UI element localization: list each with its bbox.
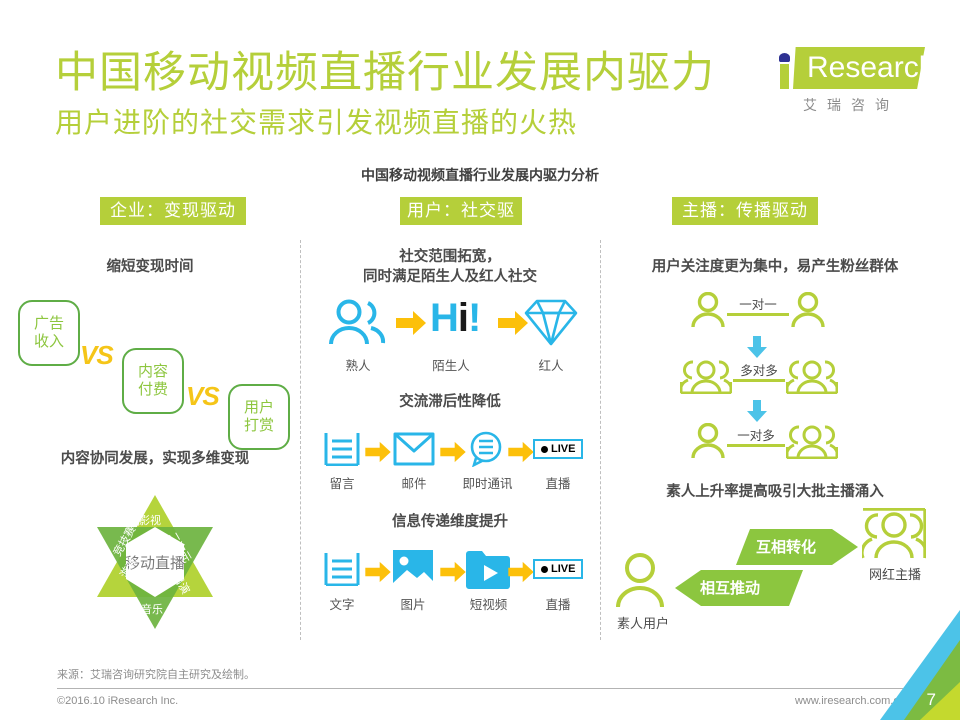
group-icon-influencer [862, 508, 926, 560]
column-header-user: 用户：社交驱动 [400, 197, 522, 225]
slide-page: 中国移动视频直播行业发展内驱力 用户进阶的社交需求引发视频直播的火热 Resea… [0, 0, 960, 720]
document-icon-2 [324, 552, 360, 586]
section-heading-social-scope: 社交范围拓宽， 同时满足陌生人及红人社交 [320, 248, 580, 287]
copyright-text: ©2016.10 iResearch Inc. [57, 695, 178, 707]
icon-label-instant-messaging: 即时通讯 [450, 473, 525, 492]
image-icon [393, 550, 433, 588]
icon-label-message: 留言 [312, 473, 372, 492]
icon-label-live-2: 直播 [528, 594, 588, 613]
group-icon-3 [786, 423, 838, 459]
person-icon-amateur [614, 553, 666, 609]
section-heading-monetization-time: 缩短变现时间 [60, 258, 240, 278]
column-divider-2 [600, 240, 601, 640]
footer-divider [57, 688, 903, 689]
icon-label-text: 文字 [312, 594, 372, 613]
box-ad-revenue: 广告 收入 [18, 300, 80, 366]
arrow-right-icon-5 [508, 441, 534, 463]
relation-line-1 [727, 313, 789, 316]
icon-label-short-video: 短视频 [451, 594, 526, 613]
box-ad-revenue-label: 广告 收入 [34, 315, 64, 351]
logo-i-dot [779, 53, 790, 62]
relation-label-many-to-many: 多对多 [729, 360, 789, 379]
live-badge-icon-2: LIVE [533, 559, 583, 579]
relation-line-3 [727, 444, 785, 447]
relation-label-one-to-one: 一对一 [728, 294, 788, 313]
section-heading-content-synergy: 内容协同发展，实现多维变现 [40, 450, 270, 470]
page-subtitle: 用户进阶的社交需求引发视频直播的火热 [55, 108, 577, 139]
arrow-down-icon-2 [746, 400, 768, 422]
box-user-tipping-label: 用户 打赏 [244, 399, 274, 435]
logo-chinese-name: 艾瑞咨询 [803, 95, 899, 115]
icon-label-acquaintance: 熟人 [328, 355, 388, 374]
arrow-right-icon-4 [440, 441, 466, 463]
section-heading-info-dimension: 信息传递维度提升 [320, 513, 580, 533]
icon-label-influencer: 红人 [521, 355, 581, 374]
arrow-right-icon-3 [365, 441, 391, 463]
page-title: 中国移动视频直播行业发展内驱力 [55, 50, 715, 97]
arrow-right-icon-8 [508, 561, 534, 583]
live-dot-icon-2 [541, 566, 548, 573]
section-heading-attention-concentration: 用户关注度更为集中，易产生粉丝群体 [610, 258, 940, 278]
page-number: 7 [927, 690, 936, 710]
arrow-right-icon-6 [365, 561, 391, 583]
live-dot-icon-1 [541, 446, 548, 453]
live-badge-icon-1: LIVE [533, 439, 583, 459]
box-user-tipping: 用户 打赏 [228, 384, 290, 450]
box-content-payment: 内容 付费 [122, 348, 184, 414]
corner-decoration-icon [880, 610, 960, 720]
arrow-right-icon-1 [396, 310, 426, 336]
arrow-right-icon-7 [440, 561, 466, 583]
arrow-down-icon-1 [746, 336, 768, 358]
icon-label-live-1: 直播 [528, 473, 588, 492]
box-content-payment-label: 内容 付费 [138, 363, 168, 399]
vs-label-1: VS [80, 340, 113, 371]
corner-decoration [880, 610, 960, 720]
icon-label-stranger: 陌生人 [421, 355, 481, 374]
diamond-icon [524, 298, 578, 346]
label-mutual-promotion: 相互推动 [700, 577, 760, 598]
logo-i-icon [779, 53, 791, 89]
live-badge-label-2: LIVE [551, 563, 575, 575]
label-mutual-conversion: 互相转化 [756, 536, 816, 557]
relation-line-2 [733, 379, 785, 382]
person-icon-3 [690, 423, 726, 459]
column-header-enterprise: 企业：变现驱动 [100, 197, 246, 225]
section-heading-communication-lag: 交流滞后性降低 [320, 393, 580, 413]
chart-title: 中国移动视频直播行业发展内驱力分析 [0, 165, 960, 185]
hi-text-icon: Hi! [430, 296, 480, 341]
logo-mark: Research [775, 45, 935, 93]
icon-label-picture: 图片 [383, 594, 443, 613]
column-divider-1 [300, 240, 301, 640]
iresearch-logo: Research 艾瑞咨询 [775, 45, 935, 125]
icon-label-email: 邮件 [384, 473, 444, 492]
video-play-icon [466, 549, 510, 589]
logo-wordmark: Research [807, 51, 935, 85]
star-label-music: 音乐 [141, 601, 163, 617]
logo-i-stem [780, 64, 789, 89]
chat-bubble-icon [468, 431, 504, 467]
envelope-icon [393, 432, 435, 466]
live-badge-label-1: LIVE [551, 443, 575, 455]
person-icon-2 [790, 292, 826, 328]
group-icon-1 [680, 358, 732, 394]
column-header-anchor: 主播：传播驱动 [672, 197, 818, 225]
source-note: 来源：艾瑞咨询研究院自主研究及绘制。 [57, 666, 255, 682]
label-amateur-user: 素人用户 [608, 613, 678, 632]
label-influencer-anchor: 网红主播 [852, 564, 938, 583]
relation-label-one-to-many: 一对多 [726, 425, 786, 444]
section-heading-amateur-growth: 素人上升率提高吸引大批主播涌入 [615, 483, 935, 503]
vs-label-2: VS [186, 381, 219, 412]
document-icon-1 [324, 432, 360, 466]
group-icon-2 [786, 358, 838, 394]
person-icon-1 [690, 292, 726, 328]
star-diagram: 移动直播 影视 二次元 出演 音乐 游戏 竞技赛事 [75, 487, 235, 637]
two-people-icon [327, 298, 389, 346]
